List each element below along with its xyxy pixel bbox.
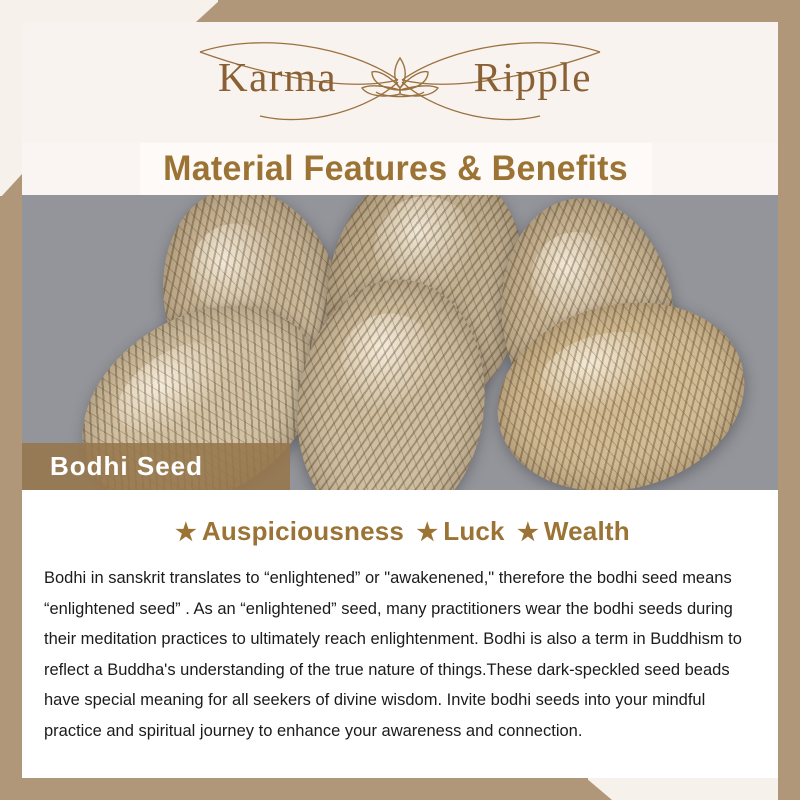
frame-band-right	[778, 0, 800, 800]
description-paragraph: Bodhi in sanskrit translates to “enlight…	[44, 563, 756, 746]
star-icon: ★	[512, 519, 544, 546]
brand-header: Karma Ripple	[22, 22, 778, 142]
brand-logo: Karma Ripple	[190, 36, 610, 128]
page-root: Karma Ripple Material Features & Benefit…	[0, 0, 800, 800]
frame-corner-top-left-diagonal	[196, 0, 220, 22]
frame-band-top	[218, 0, 800, 22]
brand-name-left: Karma	[218, 53, 337, 101]
description-section: ★Auspiciousness ★Luck ★Wealth Bodhi in s…	[22, 490, 778, 778]
lotus-icon	[362, 58, 438, 97]
frame-band-left	[0, 196, 22, 800]
frame-corner-bottom-right-diagonal	[586, 778, 612, 800]
frame-corner-left-diagonal	[0, 174, 22, 198]
page-title: Material Features & Benefits	[164, 149, 629, 189]
content-card: Karma Ripple Material Features & Benefit…	[22, 22, 778, 778]
benefit-item-3: Wealth	[544, 516, 630, 546]
benefit-item-2: Luck	[443, 516, 504, 546]
star-icon: ★	[412, 519, 444, 546]
frame-band-bottom	[0, 778, 588, 800]
star-icon: ★	[170, 519, 202, 546]
brand-name-right: Ripple	[474, 53, 592, 101]
photo-caption-banner: Bodhi Seed	[22, 443, 290, 490]
benefit-item-1: Auspiciousness	[202, 516, 404, 546]
photo-caption-label: Bodhi Seed	[22, 451, 203, 482]
benefits-heading: ★Auspiciousness ★Luck ★Wealth	[22, 516, 778, 547]
section-title-band: Material Features & Benefits	[140, 143, 652, 195]
product-photo: Bodhi Seed	[22, 195, 778, 490]
